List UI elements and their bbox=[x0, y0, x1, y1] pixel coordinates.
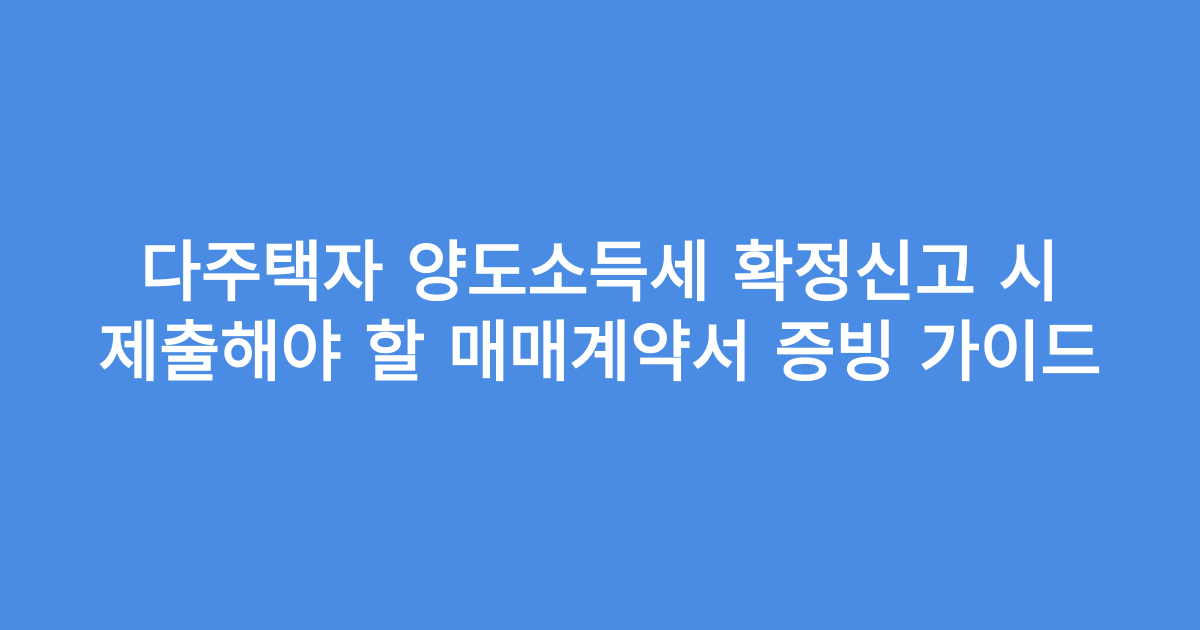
page-title: 다주택자 양도소득세 확정신고 시 제출해야 할 매매계약서 증빙 가이드 bbox=[70, 233, 1130, 393]
headline-block: 다주택자 양도소득세 확정신고 시 제출해야 할 매매계약서 증빙 가이드 bbox=[70, 233, 1130, 393]
share-card: 다주택자 양도소득세 확정신고 시 제출해야 할 매매계약서 증빙 가이드 bbox=[0, 0, 1200, 630]
